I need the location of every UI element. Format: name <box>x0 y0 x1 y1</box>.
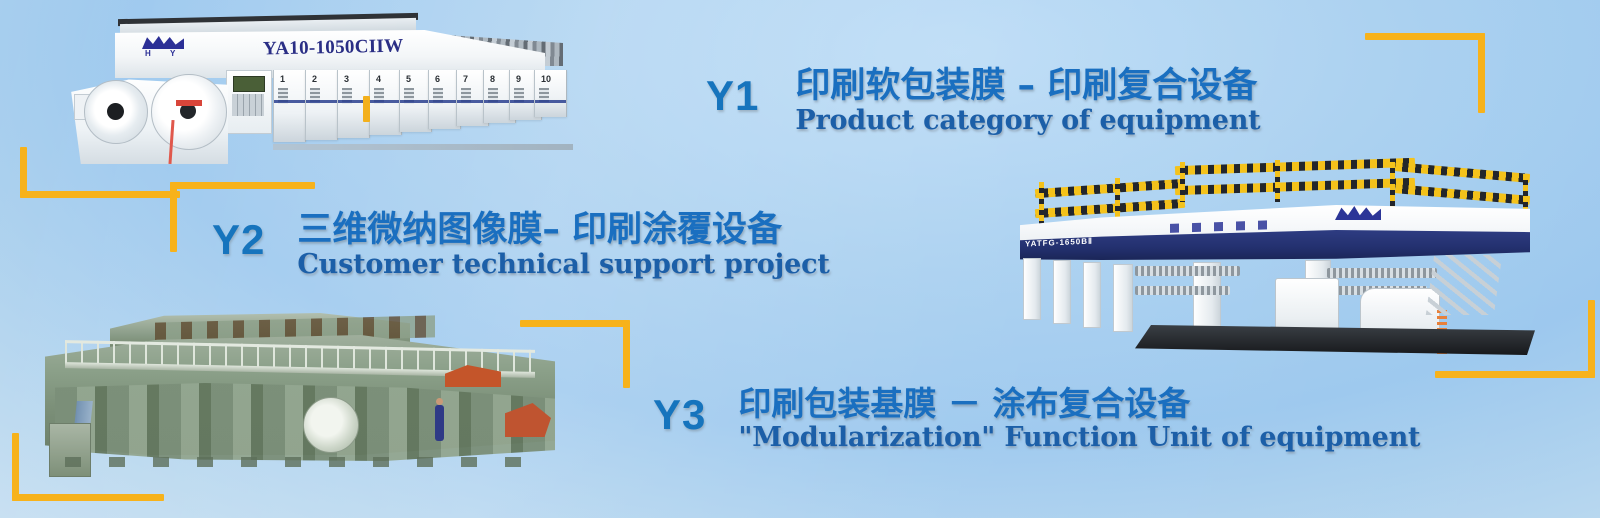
machine-photo-gravure-press: H Y YA10-1050CIIW 1 2 3 4 5 <box>58 8 603 168</box>
machine2-access-stair <box>1426 255 1502 315</box>
machine1-brand-logo: H Y <box>140 36 186 58</box>
print-unit-number: 3 <box>344 74 349 84</box>
safety-railing <box>1395 162 1530 183</box>
railing-post <box>1115 178 1120 222</box>
print-unit-number: 1 <box>280 74 285 84</box>
machine1-operator-console <box>226 70 272 134</box>
railing-post <box>1390 162 1395 208</box>
bracket-horizontal-segment <box>1435 371 1595 378</box>
console-screen-icon <box>233 76 265 92</box>
machine2-column <box>1113 264 1133 332</box>
machine1-base-rail <box>273 144 573 150</box>
bracket-vertical-segment <box>12 433 19 501</box>
machine2-roller <box>1135 266 1240 276</box>
print-unit: 1 <box>273 70 306 142</box>
bracket-horizontal-segment <box>1365 33 1485 40</box>
entry-row-y3: Y3 印刷包装基膜 － 涂布复合设备 "Modularization" Func… <box>653 387 1420 452</box>
machine3-left-cabinet <box>49 423 91 477</box>
railing-post <box>1180 162 1185 202</box>
print-unit-number: 8 <box>490 74 495 84</box>
print-unit: 4 <box>369 70 402 135</box>
entry-english-y2: Customer technical support project <box>297 251 829 279</box>
machine-photo-coating-laminator: YATFG-1650BⅡ <box>975 160 1535 360</box>
print-unit-number: 6 <box>435 74 440 84</box>
machine1-print-units: 1 2 3 4 5 6 7 <box>273 70 573 150</box>
brand-letter-left: H <box>145 49 151 58</box>
machine1-red-marker <box>176 100 202 106</box>
bracket-vertical-segment <box>170 182 177 252</box>
bracket-vertical-segment <box>1588 300 1595 378</box>
bracket-horizontal-segment <box>170 182 315 189</box>
machine3-base-feet <box>65 457 535 467</box>
railing-post <box>1039 182 1044 224</box>
machine2-roller <box>1135 286 1230 295</box>
entry-code-y1: Y1 <box>706 75 759 117</box>
brand-letter-right: Y <box>170 49 175 58</box>
railing-post <box>1275 160 1280 202</box>
machine1-reel-right <box>151 74 227 150</box>
entry-chinese-y2: 三维微纳图像膜– 印刷涂覆设备 <box>297 212 829 249</box>
entry-code-y2: Y2 <box>212 219 265 261</box>
print-unit: 10 <box>534 70 567 117</box>
print-unit-number: 10 <box>541 74 551 84</box>
machine2-base-frame <box>1135 325 1535 355</box>
entry-text-y1: 印刷软包装膜 – 印刷复合设备 Product category of equi… <box>795 68 1260 135</box>
unit-stripe <box>306 100 337 103</box>
print-unit: 2 <box>305 70 338 140</box>
unit-stripe <box>370 100 401 103</box>
machine2-column <box>1023 258 1041 320</box>
machine-photo-green-coating-line <box>35 305 575 490</box>
entry-text-y3: 印刷包装基膜 － 涂布复合设备 "Modularization" Functio… <box>738 387 1420 452</box>
print-unit-number: 9 <box>516 74 521 84</box>
equipment-banner: H Y YA10-1050CIIW 1 2 3 4 5 <box>0 0 1600 518</box>
machine3-large-roller <box>303 397 359 453</box>
print-unit-number: 2 <box>312 74 317 84</box>
unit-stripe <box>535 100 566 103</box>
bracket-vertical-segment <box>623 320 630 388</box>
safety-railing <box>1175 158 1415 175</box>
machine1-yellow-marker <box>363 96 370 122</box>
brand-mark-icon <box>142 36 184 49</box>
print-unit-number: 4 <box>376 74 381 84</box>
entry-english-y3: "Modularization" Function Unit of equipm… <box>738 424 1420 452</box>
print-unit-number: 7 <box>463 74 468 84</box>
machine2-column <box>1083 262 1101 328</box>
safety-railing <box>1175 178 1415 195</box>
bracket-horizontal-segment <box>12 494 164 501</box>
bracket-horizontal-segment <box>20 191 180 198</box>
entry-row-y1: Y1 印刷软包装膜 – 印刷复合设备 Product category of e… <box>706 68 1260 135</box>
machine1-reel-left <box>84 80 148 144</box>
safety-railing <box>1395 184 1530 205</box>
console-keypad-icon <box>232 94 264 116</box>
entry-row-y2: Y2 三维微纳图像膜– 印刷涂覆设备 Customer technical su… <box>212 212 830 279</box>
unit-stripe <box>400 100 431 103</box>
entry-chinese-y3: 印刷包装基膜 － 涂布复合设备 <box>738 387 1420 422</box>
unit-stripe <box>274 100 305 103</box>
machine2-column <box>1053 260 1071 324</box>
entry-text-y2: 三维微纳图像膜– 印刷涂覆设备 Customer technical suppo… <box>297 212 829 279</box>
print-unit-number: 5 <box>406 74 411 84</box>
entry-english-y1: Product category of equipment <box>795 107 1260 135</box>
bracket-top-right <box>1365 33 1485 113</box>
bracket-vertical-segment <box>1478 33 1485 113</box>
machine1-model-label: YA10-1050CIIW <box>263 36 404 61</box>
machine3-operator-figure <box>435 405 444 441</box>
safety-railing <box>1035 179 1185 198</box>
entry-chinese-y1: 印刷软包装膜 – 印刷复合设备 <box>795 68 1260 105</box>
machine2-roller <box>1327 268 1437 278</box>
entry-code-y3: Y3 <box>653 394 706 436</box>
